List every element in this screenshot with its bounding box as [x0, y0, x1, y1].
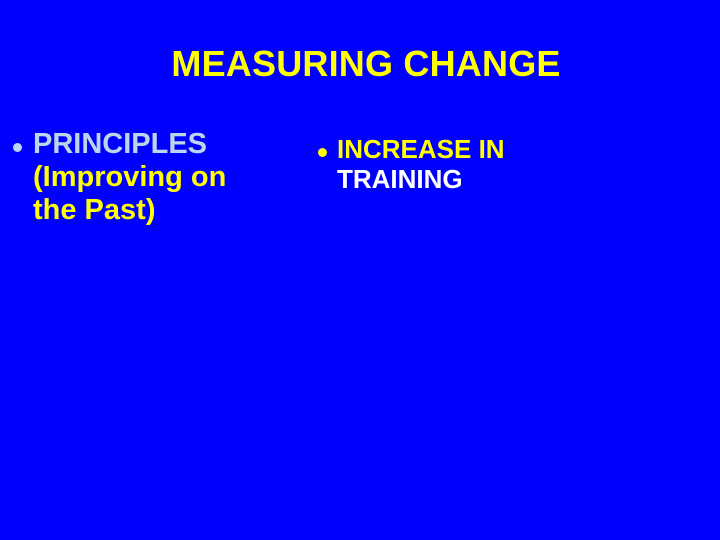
presentation-slide: MEASURING CHANGE PRINCIPLES (Improving o… [0, 0, 720, 540]
bullet-point-icon [13, 143, 22, 152]
bullet-item-principles-text: PRINCIPLES (Improving on the Past) [6, 128, 306, 227]
content-column-right: INCREASE IN TRAINING [310, 134, 600, 194]
bullet-detail-training: TRAINING [337, 164, 600, 194]
slide-title: MEASURING CHANGE [0, 43, 720, 85]
bullet-detail-improving-line1: (Improving on [33, 161, 306, 194]
bullet-point-icon [318, 148, 327, 157]
content-column-left: PRINCIPLES (Improving on the Past) [6, 128, 306, 227]
bullet-detail-improving-line2: the Past) [33, 194, 306, 227]
bullet-item-increase-text: INCREASE IN TRAINING [310, 134, 600, 194]
bullet-heading-principles: PRINCIPLES [33, 128, 306, 161]
bullet-item-increase-in-training: INCREASE IN TRAINING [310, 134, 600, 194]
bullet-item-principles: PRINCIPLES (Improving on the Past) [6, 128, 306, 227]
bullet-heading-increase-in: INCREASE IN [337, 134, 600, 164]
